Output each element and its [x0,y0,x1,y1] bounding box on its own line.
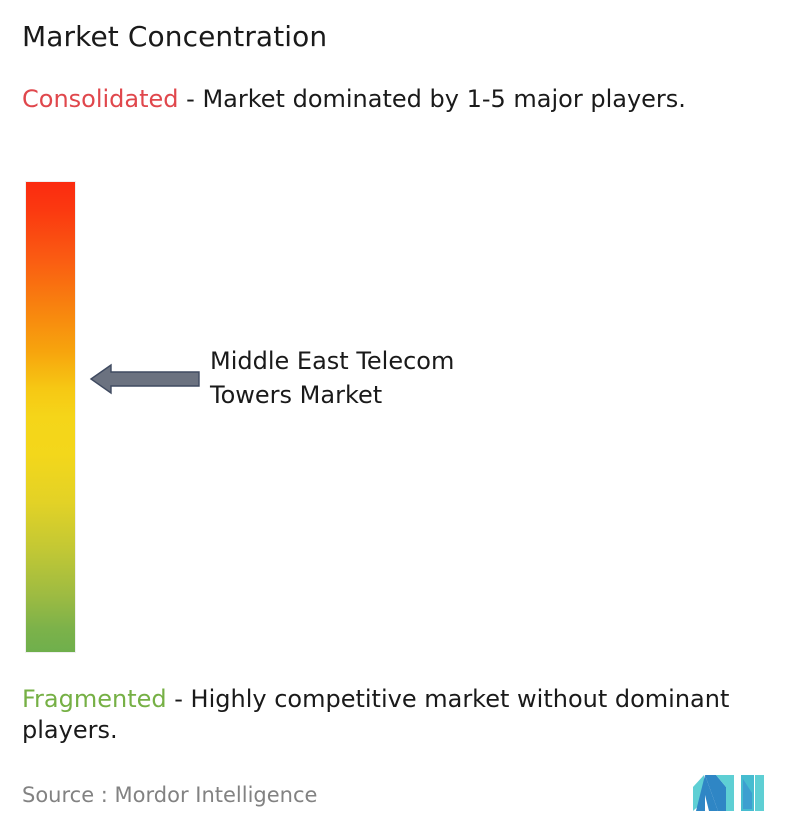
mordor-intelligence-logo [692,771,766,815]
legend-term-fragmented: Fragmented [22,685,167,713]
source-note: Source : Mordor Intelligence [22,782,317,808]
legend-fragmented: Fragmented - Highly competitive market w… [22,684,788,746]
marker-arrow [89,361,201,397]
legend-consolidated: Consolidated - Market dominated by 1-5 m… [22,84,782,115]
legend-description-consolidated: - Market dominated by 1-5 major players. [179,85,686,113]
marker-label-line-1: Middle East Telecom [210,344,640,378]
arrow-left-icon [89,361,201,397]
market-concentration-chart: Market Concentration Consolidated - Mark… [0,0,796,834]
concentration-scale-bar [26,182,75,652]
marker-label-line-2: Towers Market [210,378,640,412]
page-title: Market Concentration [22,20,327,54]
legend-term-consolidated: Consolidated [22,85,179,113]
mi-monogram-icon [692,771,766,815]
marker-label: Middle East Telecom Towers Market [210,344,640,412]
